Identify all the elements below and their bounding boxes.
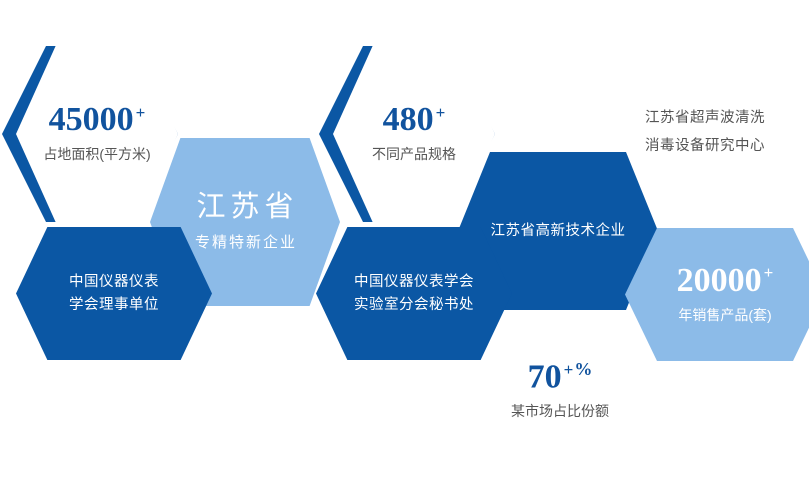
infographic-stage: 45000+ 占地面积(平方米) 480+ 不同产品规格 江苏省 专精特新企业 … — [0, 0, 809, 487]
badge-research-center-line1: 江苏省超声波清洗 — [645, 104, 765, 132]
stat-area-caption: 占地面积(平方米) — [43, 144, 150, 165]
badge-lab-branch-line1: 中国仪器仪表学会 — [354, 271, 474, 293]
badge-lab-branch-secretariat[interactable]: 中国仪器仪表学会 实验室分会秘书处 — [316, 227, 512, 360]
badge-instrument-society-line2: 学会理事单位 — [69, 294, 159, 316]
stat-area-number: 45000+ — [49, 103, 146, 137]
plus-sign-icon: + — [436, 103, 446, 122]
stat-market-share-caption: 某市场占比份额 — [455, 401, 665, 422]
badge-research-center: 江苏省超声波清洗 消毒设备研究中心 — [645, 104, 765, 161]
plus-sign-icon: + — [764, 263, 774, 282]
badge-jiangsu-subtitle: 专精特新企业 — [193, 231, 297, 252]
stat-card-market-share: 70+% 某市场占比份额 — [455, 360, 665, 422]
stat-specs-number: 480+ — [383, 103, 446, 137]
badge-lab-branch-line2: 实验室分会秘书处 — [354, 294, 474, 316]
stat-market-share-number: 70+% — [455, 360, 665, 394]
badge-high-tech-label: 江苏省高新技术企业 — [491, 220, 626, 242]
stat-annual-sales-caption: 年销售产品(套) — [678, 305, 771, 326]
badge-jiangsu-title: 江苏省 — [191, 192, 298, 224]
badge-instrument-society-line1: 中国仪器仪表 — [69, 271, 159, 293]
stat-annual-sales-number: 20000+ — [677, 264, 774, 298]
stat-specs-caption: 不同产品规格 — [372, 144, 456, 165]
percent-sign-icon: % — [574, 359, 592, 379]
stat-card-annual-sales[interactable]: 20000+ 年销售产品(套) — [625, 228, 809, 361]
badge-research-center-line2: 消毒设备研究中心 — [645, 132, 765, 160]
plus-sign-icon: + — [564, 360, 574, 379]
plus-sign-icon: + — [136, 103, 146, 122]
badge-instrument-society-council[interactable]: 中国仪器仪表 学会理事单位 — [16, 227, 212, 360]
